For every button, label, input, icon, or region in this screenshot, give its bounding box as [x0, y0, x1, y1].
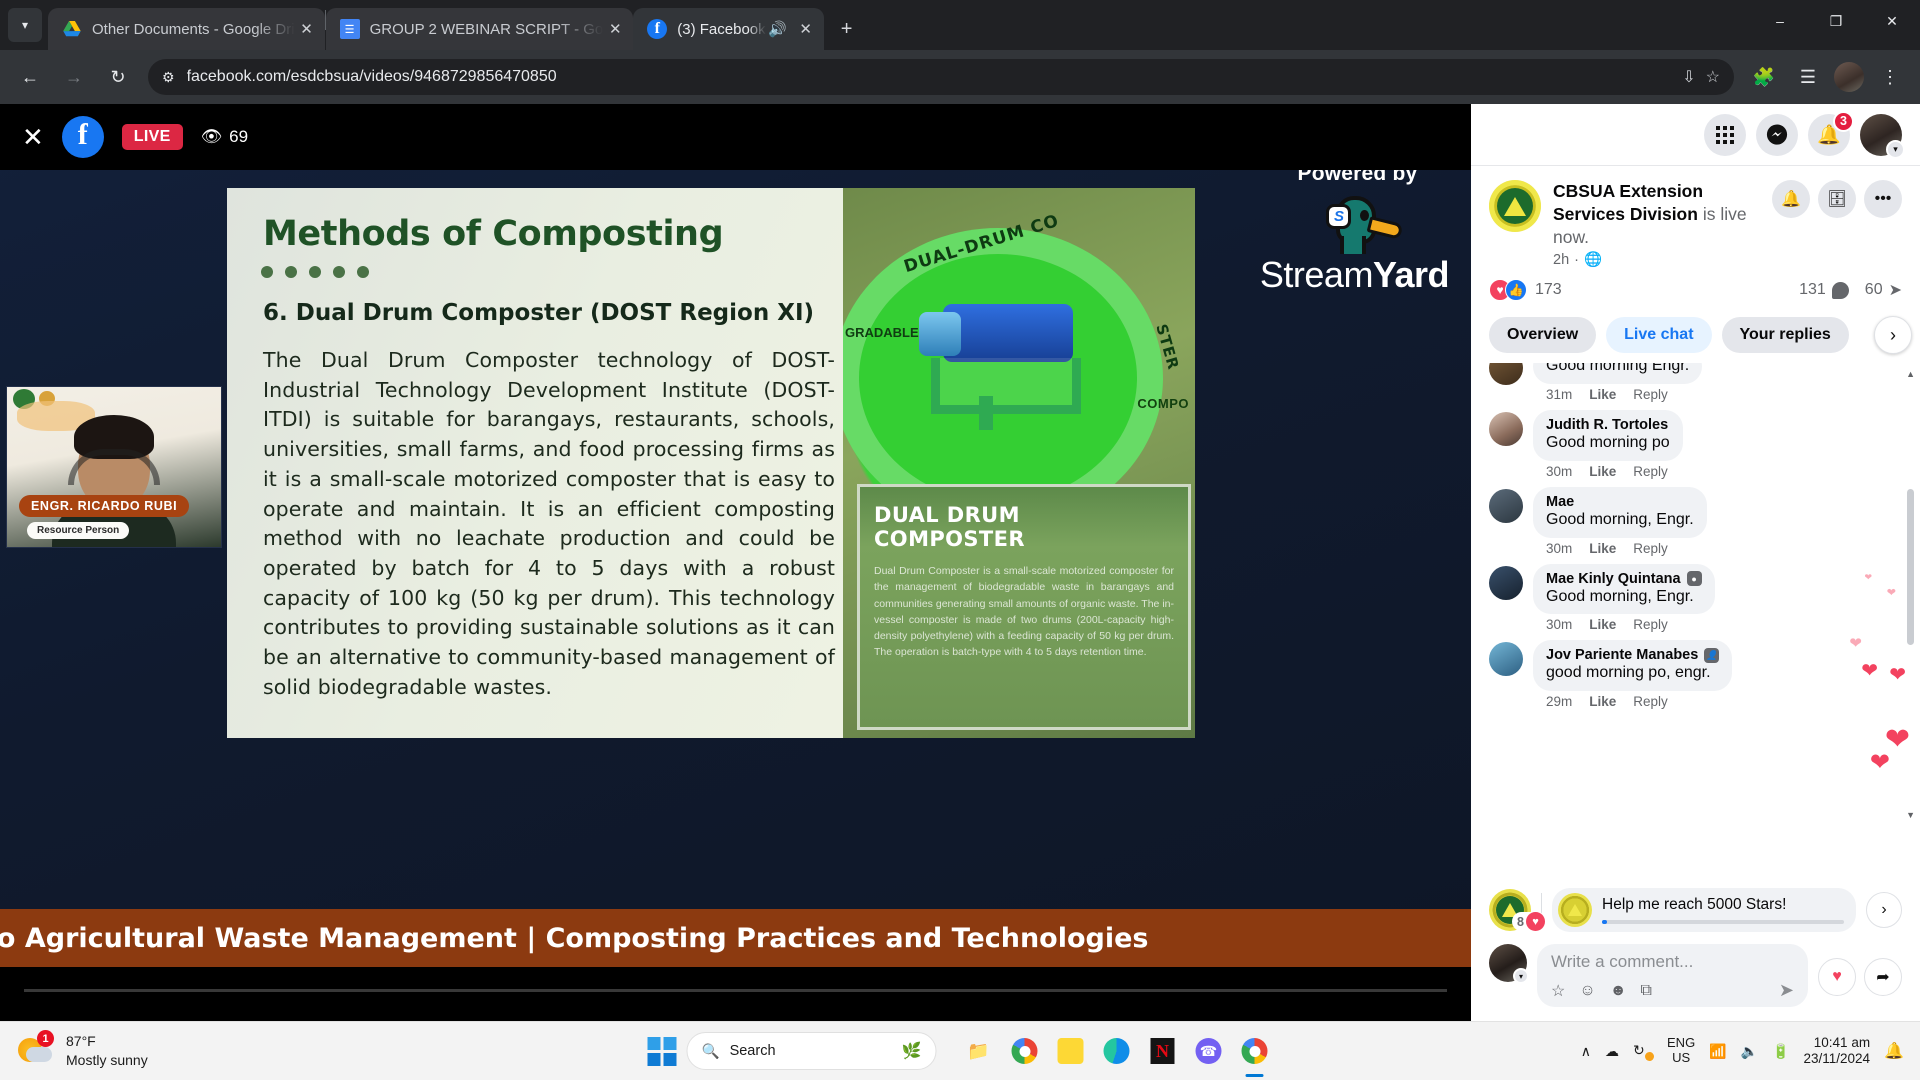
chrome-browser-window: ▾ Other Documents - Google Dri ✕ ☰ GROUP… [0, 0, 1920, 1080]
netflix-icon[interactable]: N [1145, 1033, 1181, 1069]
facebook-top-nav: 🔔 3 ▾ [1471, 104, 1920, 166]
tab-your-replies[interactable]: Your replies [1722, 317, 1849, 353]
share-count-group[interactable]: 60 ➤ [1865, 280, 1902, 300]
comment-author: Mae Kinly Quintana ● [1546, 571, 1702, 587]
tab-overview[interactable]: Overview [1489, 317, 1596, 353]
tab-title: Other Documents - Google Dri [92, 21, 295, 38]
comment-actions: 30m Like Reply [1546, 617, 1715, 632]
avatar[interactable] [1489, 363, 1523, 385]
video-progress-bar[interactable] [24, 989, 1447, 992]
like-link[interactable]: Like [1589, 617, 1616, 632]
notifications-badge: 3 [1833, 111, 1854, 132]
comment-text: Good morning po [1546, 433, 1670, 454]
tab-live-chat[interactable]: Live chat [1606, 317, 1711, 353]
list-item[interactable]: Jov Pariente Manabes 👤 good morning po, … [1489, 640, 1902, 709]
share-arrow-icon: ➤ [1889, 280, 1902, 300]
notifications-bell-icon[interactable]: 🔔 3 [1808, 114, 1850, 156]
facebook-logo-icon[interactable]: f [62, 116, 104, 158]
chevron-down-icon[interactable]: ▾ [1513, 968, 1529, 984]
comment-bubble: Mae Kinly Quintana ● Good morning, Engr. [1533, 564, 1715, 615]
video-player-column[interactable]: ✕ f LIVE 👁 69 Powered by S [0, 104, 1471, 1021]
save-post-icon[interactable]: 🗄 [1818, 180, 1856, 218]
presentation-slide: Methods of Composting 6. Dual Drum Compo… [227, 188, 1195, 738]
like-link[interactable]: Like [1589, 464, 1616, 479]
close-icon[interactable]: ✕ [603, 17, 627, 41]
heart-icon: ♥ [1526, 912, 1545, 931]
clock-date: 23/11/2024 [1804, 1051, 1871, 1067]
apps-grid-icon[interactable] [1704, 114, 1746, 156]
battery-icon[interactable]: 🔋 [1772, 1043, 1789, 1060]
gif-icon[interactable]: ⧉ [1641, 982, 1652, 1000]
copilot-leaf-icon[interactable]: 🌿 [902, 1041, 922, 1061]
scrollbar-thumb[interactable] [1907, 489, 1914, 645]
tab-search-button[interactable]: ▾ [8, 8, 42, 42]
comment-time: 30m [1546, 541, 1572, 556]
comment-bubble: Judith R. Tortoles Good morning po [1533, 410, 1683, 461]
weather-badge: 1 [37, 1030, 54, 1047]
extensions-puzzle-icon[interactable]: 🧩 [1746, 59, 1782, 95]
install-icon[interactable]: ⇩ [1682, 67, 1695, 87]
notifications-bell-icon[interactable]: 🔔 [1884, 1041, 1904, 1061]
video-top-bar: ✕ f LIVE 👁 69 [0, 104, 1471, 170]
comment-actions: 30m Like Reply [1546, 541, 1707, 556]
post-timestamp[interactable]: 2h [1553, 252, 1569, 268]
slide-info-card: DUAL DRUM COMPOSTER Dual Drum Composter … [857, 484, 1191, 730]
page-logo-icon[interactable] [1489, 180, 1541, 232]
tab-title: GROUP 2 WEBINAR SCRIPT - Go [370, 21, 604, 38]
tab-google-docs[interactable]: ☰ GROUP 2 WEBINAR SCRIPT - Go ✕ [326, 8, 634, 50]
comment-bubble: Mae Good morning, Engr. [1533, 487, 1707, 538]
follow-bell-icon[interactable]: 🔔 [1772, 180, 1810, 218]
chrome-menu-icon[interactable]: ⋮ [1872, 59, 1908, 95]
share-count: 60 [1865, 281, 1883, 299]
search-placeholder: Search [730, 1043, 776, 1059]
slide-photo-collage: DUAL-DRUM CO STER GRADABLE WASTE COMPO D… [843, 188, 1195, 738]
reload-icon[interactable]: ↻ [100, 59, 136, 95]
streamyard-wordmark: StreamYard [1260, 254, 1449, 296]
comment-text: Good morning Engr. [1546, 363, 1689, 377]
list-item[interactable]: Good morning Engr. 31m Like Reply [1489, 363, 1902, 402]
sidebar-tabs: Overview Live chat Your replies › [1471, 309, 1920, 363]
globe-icon: 🌐 [1584, 251, 1602, 268]
close-icon[interactable]: ✕ [295, 17, 319, 41]
tab-google-drive[interactable]: Other Documents - Google Dri ✕ [48, 8, 325, 50]
notes-icon[interactable] [1053, 1033, 1089, 1069]
post-header: CBSUA Extension Services Division is liv… [1471, 166, 1920, 309]
comment-author: Jov Pariente Manabes 👤 [1546, 647, 1719, 663]
reply-link[interactable]: Reply [1633, 541, 1668, 556]
chrome-icon[interactable] [1007, 1033, 1043, 1069]
taskbar-weather-widget[interactable]: 1 87°F Mostly sunny [0, 1032, 148, 1070]
tray-chevron-icon[interactable]: ∧ [1581, 1043, 1591, 1060]
promo-progress-bar [1602, 920, 1844, 924]
taskbar-clock[interactable]: 10:41 am 23/11/2024 [1804, 1035, 1871, 1067]
taskbar-search-input[interactable]: 🔍 Search 🌿 [687, 1032, 937, 1070]
google-docs-icon: ☰ [340, 19, 360, 39]
comment-time: 31m [1546, 387, 1572, 402]
like-link[interactable]: Like [1589, 541, 1616, 556]
comments-list[interactable]: Good morning Engr. 31m Like Reply Judith [1471, 363, 1920, 880]
comment-input-box[interactable]: Write a comment... ☆ ☺ ☻ ⧉ ➤ [1537, 944, 1808, 1007]
comment-composer: ▾ Write a comment... ☆ ☺ ☻ ⧉ ➤ ♥ ➦ [1471, 936, 1920, 1021]
post-meta: 2h · 🌐 [1553, 251, 1760, 268]
streamyard-light: Stream [1260, 254, 1373, 295]
window-controls: – ❐ ✕ [1752, 0, 1920, 50]
streamyard-bold: Yard [1373, 254, 1449, 295]
like-link[interactable]: Like [1589, 694, 1616, 709]
comment-time: 30m [1546, 617, 1572, 632]
reading-list-icon[interactable]: ☰ [1790, 59, 1826, 95]
close-window-button[interactable]: ✕ [1864, 0, 1920, 42]
url-text: facebook.com/esdcbsua/videos/94687298564… [187, 68, 1671, 86]
comment-author: Judith R. Tortoles [1546, 417, 1670, 433]
comment-count-group[interactable]: 131 [1799, 281, 1849, 299]
comment-time: 30m [1546, 464, 1572, 479]
reaction-count[interactable]: 173 [1535, 281, 1562, 299]
slide-heading: 6. Dual Drum Composter (DOST Region XI) [263, 300, 814, 326]
comment-count: 131 [1799, 281, 1826, 299]
streamyard-watermark: Powered by S StreamYard [1266, 162, 1449, 296]
composer-tools: ☆ ☺ ☻ ⧉ ➤ [1551, 980, 1794, 1001]
stars-promo-row[interactable]: 8 ♥ Help me reach 5000 Stars! › [1471, 880, 1920, 936]
send-love-button[interactable]: ♥ [1818, 958, 1856, 996]
account-avatar[interactable]: ▾ [1860, 114, 1902, 156]
facebook-video-page: ✕ f LIVE 👁 69 Powered by S [0, 104, 1920, 1021]
share-button[interactable]: ➦ [1864, 958, 1902, 996]
tab-title: (3) Facebook [677, 21, 765, 38]
comment-actions: 29m Like Reply [1546, 694, 1732, 709]
comments-scrollbar[interactable]: ▲ ▼ [1907, 369, 1916, 820]
follower-badge-icon: 👤 [1704, 648, 1719, 663]
promo-next-icon[interactable]: › [1866, 892, 1902, 928]
comment-text: Good morning, Engr. [1546, 510, 1694, 531]
new-tab-button[interactable]: + [832, 14, 862, 44]
comment-time: 29m [1546, 694, 1572, 709]
minimize-button[interactable]: – [1752, 0, 1808, 42]
language-line1: ENG [1667, 1036, 1695, 1051]
caption-text: to Agricultural Waste Management | Compo… [0, 923, 1149, 954]
reaction-icons[interactable]: ♥ 👍 [1489, 279, 1527, 301]
like-reaction-icon: 👍 [1505, 279, 1527, 301]
taskbar-center: 🔍 Search 🌿 📁 N ☎ [648, 1032, 1273, 1070]
taskbar-apps: 📁 N ☎ [961, 1033, 1273, 1069]
comment-bubble: Jov Pariente Manabes 👤 good morning po, … [1533, 640, 1732, 691]
reply-link[interactable]: Reply [1633, 387, 1668, 402]
volume-icon[interactable]: 🔈 [1741, 1043, 1758, 1060]
language-indicator[interactable]: ENG US [1667, 1036, 1695, 1066]
reply-link[interactable]: Reply [1633, 617, 1668, 632]
video-caption-bar: to Agricultural Waste Management | Compo… [0, 909, 1471, 967]
address-bar[interactable]: ⚙ facebook.com/esdcbsua/videos/946872985… [148, 59, 1734, 95]
emoji-icon[interactable]: ☻ [1610, 982, 1627, 1000]
eye-icon: 👁 [201, 127, 223, 147]
tabs-next-icon[interactable]: › [1874, 316, 1912, 354]
comment-author: Mae [1546, 494, 1694, 510]
comment-text: good morning po, engr. [1546, 663, 1719, 684]
comment-actions: 30m Like Reply [1546, 464, 1683, 479]
taskbar-system-tray: ∧ ☁ ↻ ENG US 📶 🔈 🔋 10:41 am 23/11/2024 🔔 [1581, 1035, 1920, 1067]
tab-strip: ▾ Other Documents - Google Dri ✕ ☰ GROUP… [0, 0, 1920, 50]
viber-icon[interactable]: ☎ [1191, 1033, 1227, 1069]
bookmark-star-icon[interactable]: ☆ [1706, 67, 1720, 87]
google-drive-icon [62, 19, 82, 39]
presenter-video-thumbnail[interactable]: ENGR. RICARDO RUBI Resource Person [6, 386, 222, 548]
video-controls-bar[interactable] [0, 967, 1471, 1021]
top-fan-badge-icon: ● [1687, 571, 1702, 586]
wifi-icon[interactable]: 📶 [1709, 1043, 1726, 1060]
onedrive-icon[interactable]: ☁ [1605, 1043, 1619, 1060]
avatar[interactable]: ▾ [1489, 944, 1527, 982]
avatar[interactable] [1489, 642, 1523, 676]
site-settings-icon[interactable]: ⚙ [162, 69, 175, 86]
windows-taskbar: 1 87°F Mostly sunny 🔍 Search 🌿 📁 N ☎ [0, 1021, 1920, 1080]
streamyard-duck-icon: S [1320, 192, 1394, 254]
like-link[interactable]: Like [1589, 387, 1616, 402]
chrome-active-icon[interactable] [1237, 1033, 1273, 1069]
promo-title: Help me reach 5000 Stars! [1602, 896, 1844, 914]
more-options-icon[interactable]: ••• [1864, 180, 1902, 218]
file-explorer-icon[interactable]: 📁 [961, 1033, 997, 1069]
star-count-badge: 8 ♥ [1512, 912, 1547, 931]
comment-actions: 31m Like Reply [1546, 387, 1702, 402]
avatar-emoji-icon[interactable]: ☺ [1579, 982, 1595, 1000]
profile-avatar[interactable] [1834, 62, 1864, 92]
scroll-down-icon[interactable]: ▼ [1906, 810, 1915, 820]
search-icon: 🔍 [702, 1043, 720, 1060]
video-stage[interactable]: ✕ f LIVE 👁 69 Powered by S [0, 104, 1471, 1021]
slide-progress-dots [261, 266, 369, 278]
page-name-line: CBSUA Extension Services Division is liv… [1553, 180, 1760, 249]
composter-machine-illustration [909, 296, 1099, 426]
comment-bubble-icon [1832, 282, 1849, 299]
list-item[interactable]: Mae Kinly Quintana ● Good morning, Engr.… [1489, 564, 1902, 633]
avatar[interactable] [1489, 566, 1523, 600]
presenter-name: ENGR. RICARDO RUBI [19, 495, 189, 517]
close-icon[interactable]: ✕ [22, 122, 44, 153]
chevron-down-icon[interactable]: ▾ [1886, 140, 1905, 159]
list-item[interactable]: Judith R. Tortoles Good morning po 30m L… [1489, 410, 1902, 479]
sync-icon[interactable]: ↻ [1633, 1042, 1653, 1060]
meta-dot: · [1574, 252, 1579, 268]
browser-toolbar: ← → ↻ ⚙ facebook.com/esdcbsua/videos/946… [0, 50, 1920, 104]
comment-text: Good morning, Engr. [1546, 587, 1702, 608]
comment-bubble: Good morning Engr. [1533, 363, 1702, 384]
reply-link[interactable]: Reply [1633, 464, 1668, 479]
close-icon[interactable]: ✕ [794, 17, 818, 41]
weather-condition: Mostly sunny [66, 1051, 148, 1070]
clock-time: 10:41 am [1804, 1035, 1871, 1051]
weather-temperature: 87°F [66, 1032, 148, 1051]
scroll-up-icon[interactable]: ▲ [1906, 369, 1915, 379]
facebook-sidebar: 🔔 3 ▾ CBSUA Extension Services Division … [1471, 104, 1920, 1021]
photo-label-compo: COMPO [1137, 396, 1189, 411]
tab-facebook[interactable]: f (3) Facebook 🔊 ✕ [633, 8, 823, 50]
info-card-title: DUAL DRUM COMPOSTER [874, 503, 1174, 551]
forward-icon[interactable]: → [56, 59, 92, 95]
star-count: 8 [1517, 915, 1524, 929]
maximize-button[interactable]: ❐ [1808, 0, 1864, 42]
presenter-role: Resource Person [27, 522, 129, 539]
comment-input-placeholder: Write a comment... [1551, 952, 1794, 972]
promo-card[interactable]: Help me reach 5000 Stars! [1552, 888, 1856, 932]
viewer-count: 👁 69 [201, 127, 249, 147]
list-item[interactable]: Mae Good morning, Engr. 30m Like Reply [1489, 487, 1902, 556]
slide-title: Methods of Composting [263, 214, 723, 254]
language-line2: US [1667, 1051, 1695, 1066]
facebook-icon: f [647, 19, 667, 39]
messenger-icon[interactable] [1756, 114, 1798, 156]
viewer-count-value: 69 [229, 127, 248, 147]
edge-icon[interactable] [1099, 1033, 1135, 1069]
send-icon[interactable]: ➤ [1779, 980, 1794, 1001]
windows-start-icon[interactable] [648, 1037, 677, 1066]
weather-icon: 1 [18, 1034, 56, 1068]
page-name[interactable]: CBSUA Extension Services Division [1553, 181, 1703, 224]
post-stats: ♥ 👍 173 131 60 ➤ [1489, 279, 1902, 301]
sticker-icon[interactable]: ☆ [1551, 981, 1565, 1001]
slide-body-text: The Dual Drum Composter technology of DO… [263, 346, 835, 703]
avatar[interactable] [1489, 489, 1523, 523]
live-badge: LIVE [122, 124, 183, 150]
tab-audio-icon[interactable]: 🔊 [766, 17, 790, 41]
avatar[interactable] [1489, 412, 1523, 446]
page-logo-small-icon [1558, 893, 1592, 927]
info-card-body: Dual Drum Composter is a small-scale mot… [874, 563, 1174, 661]
reply-link[interactable]: Reply [1633, 694, 1668, 709]
back-icon[interactable]: ← [12, 59, 48, 95]
